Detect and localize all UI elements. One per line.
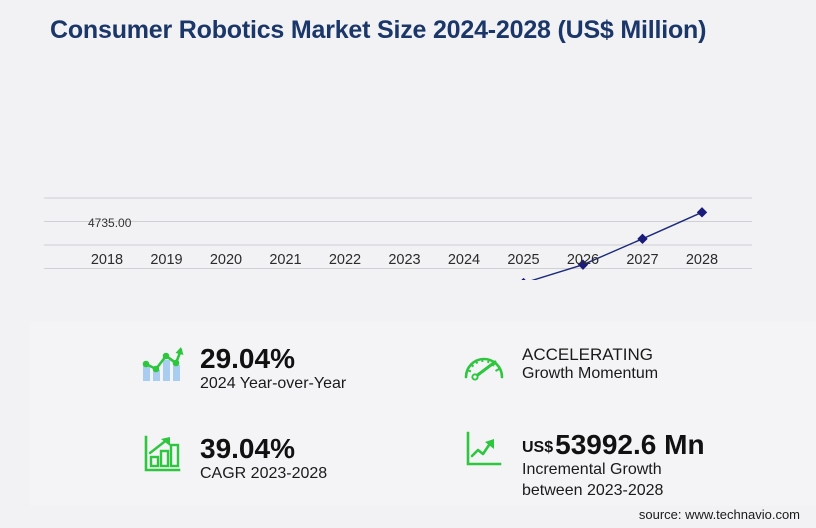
stats-panel: 29.04% 2024 Year-over-Year 39.04% CAGR 2…: [30, 322, 816, 506]
stat-text: ACCELERATING Growth Momentum: [522, 346, 658, 385]
stat-growth-momentum: ACCELERATING Growth Momentum: [460, 346, 658, 385]
bar-chart-trend-icon: [138, 344, 186, 384]
x-axis-tick-2022: 2022: [329, 252, 361, 268]
speedometer-icon: [460, 346, 508, 384]
data-point-marker: [637, 234, 647, 244]
stat-value: 39.04%: [200, 434, 327, 464]
source-note: source: www.technavio.com: [639, 507, 800, 522]
stat-incremental-growth: US$53992.6 Mn Incremental Growth between…: [460, 430, 705, 501]
stat-text: 29.04% 2024 Year-over-Year: [200, 344, 346, 395]
stat-cagr: 39.04% CAGR 2023-2028: [138, 434, 327, 485]
x-axis-tick-2020: 2020: [210, 252, 242, 268]
stat-caption: CAGR 2023-2028: [200, 464, 327, 484]
first-point-data-label: 4735.00: [88, 216, 131, 230]
stat-text: 39.04% CAGR 2023-2028: [200, 434, 327, 485]
currency-prefix: US$: [522, 439, 553, 456]
x-axis-tick-2027: 2027: [626, 252, 658, 268]
data-point-marker: [697, 207, 707, 217]
stat-value: US$53992.6 Mn: [522, 430, 705, 460]
data-point-marker: [518, 278, 528, 280]
stat-caption-line1: Incremental Growth: [522, 460, 705, 480]
x-axis-tick-2025: 2025: [507, 252, 539, 268]
stat-value: 29.04%: [200, 344, 346, 374]
x-axis-tick-labels: 2018201920202021202220232024202520262027…: [0, 252, 816, 276]
growth-bars-arrow-icon: [138, 434, 186, 474]
stat-caption: Growth Momentum: [522, 364, 658, 384]
stat-amount: 53992.6 Mn: [555, 429, 704, 460]
x-axis-tick-2028: 2028: [686, 252, 718, 268]
x-axis-tick-2026: 2026: [567, 252, 599, 268]
x-axis-tick-2019: 2019: [150, 252, 182, 268]
stat-year-over-year: 29.04% 2024 Year-over-Year: [138, 344, 346, 395]
x-axis-tick-2024: 2024: [448, 252, 480, 268]
page-title: Consumer Robotics Market Size 2024-2028 …: [50, 16, 706, 45]
stat-caption-line2: between 2023-2028: [522, 481, 705, 501]
stat-value: ACCELERATING: [522, 346, 658, 364]
stat-text: US$53992.6 Mn Incremental Growth between…: [522, 430, 705, 501]
line-chart-arrow-icon: [460, 430, 508, 470]
stat-caption: 2024 Year-over-Year: [200, 374, 346, 394]
x-axis-tick-2018: 2018: [91, 252, 123, 268]
x-axis-tick-2021: 2021: [269, 252, 301, 268]
x-axis-tick-2023: 2023: [388, 252, 420, 268]
